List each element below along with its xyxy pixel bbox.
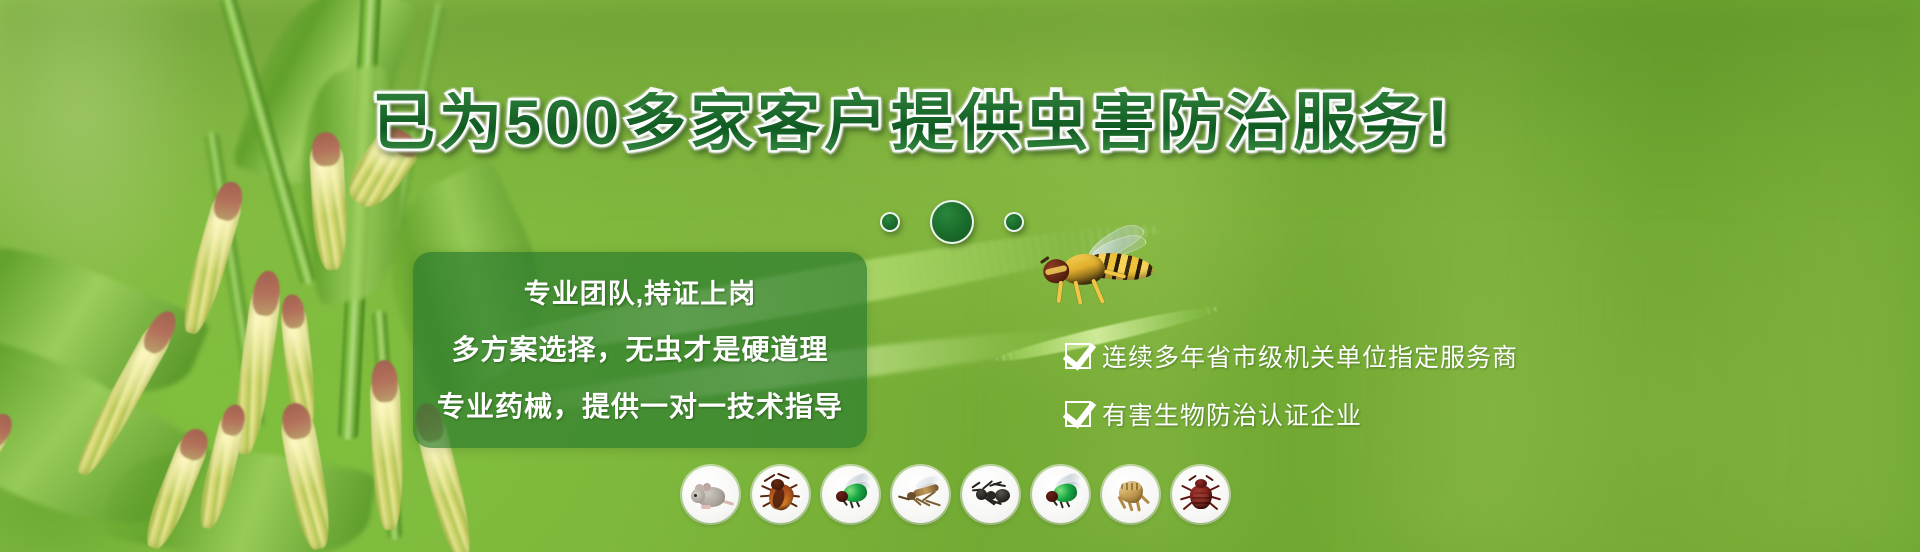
ant-icon[interactable] (962, 466, 1019, 523)
decorative-dot-small (880, 212, 900, 232)
decorative-dots (880, 200, 1024, 244)
checkbox-check-icon (1065, 401, 1091, 427)
pest-icon-row (682, 466, 1229, 523)
checklist-item: 有害生物防治认证企业 (1065, 396, 1518, 432)
banner-headline: 已为500多家客户提供虫害防治服务! (372, 92, 1452, 155)
checklist-item-label: 有害生物防治认证企业 (1102, 396, 1362, 432)
decorative-dot-large (930, 200, 974, 244)
checklist-item-label: 连续多年省市级机关单位指定服务商 (1102, 338, 1518, 374)
fly-leg (1091, 278, 1105, 303)
selling-point-line-2: 多方案选择，无虫才是硬道理 (451, 328, 828, 368)
bedbug-icon[interactable] (1172, 466, 1229, 523)
checkbox-check-icon (1065, 343, 1091, 369)
fly-icon[interactable] (822, 466, 879, 523)
decorative-dot-small (1004, 212, 1024, 232)
selling-points-panel: 专业团队,持证上岗 多方案选择，无虫才是硬道理 专业药械，提供一对一技术指导 (413, 252, 867, 448)
pest-control-banner: 已为500多家客户提供虫害防治服务! 已为500多家客户提供虫害防治服务! 专业… (0, 0, 1920, 552)
selling-point-line-1: 专业团队,持证上岗 (524, 272, 757, 311)
fly-icon-2[interactable] (1032, 466, 1089, 523)
credentials-checklist: 连续多年省市级机关单位指定服务商 有害生物防治认证企业 (1065, 338, 1518, 432)
mouse-icon[interactable] (682, 466, 739, 523)
fly-leg (1056, 281, 1063, 303)
flea-icon[interactable] (1102, 466, 1159, 523)
mosquito-icon[interactable] (892, 466, 949, 523)
selling-point-line-3: 专业药械，提供一对一技术指导 (437, 385, 843, 425)
cockroach-icon[interactable] (752, 466, 809, 523)
checklist-item: 连续多年省市级机关单位指定服务商 (1065, 338, 1518, 374)
